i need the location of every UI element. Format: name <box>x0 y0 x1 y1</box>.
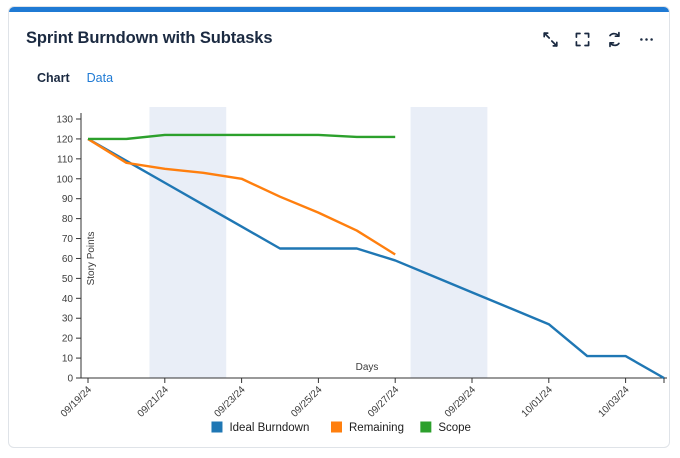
chart-legend: Ideal BurndownRemainingScope <box>211 422 470 435</box>
x-tick-label: 09/29/24 <box>443 384 479 420</box>
y-tick-label: 80 <box>62 214 74 225</box>
more-options-icon[interactable] <box>638 31 655 48</box>
y-tick-label: 130 <box>56 115 73 126</box>
x-tick-label: 09/21/24 <box>136 384 172 420</box>
tab-bar: Chart Data <box>37 71 113 85</box>
y-tick-label: 120 <box>56 134 73 145</box>
card-header: Sprint Burndown with Subtasks <box>9 12 669 60</box>
x-tick-label: 10/01/24 <box>520 384 556 420</box>
x-tick-label: 09/19/24 <box>59 384 95 420</box>
legend-label-remaining: Remaining <box>349 422 404 434</box>
collapse-icon[interactable] <box>542 31 559 48</box>
weekend-band-2 <box>411 107 488 378</box>
x-tick-label: 10/03/24 <box>596 384 632 420</box>
legend-swatch-ideal-burndown <box>211 422 222 433</box>
header-actions <box>542 31 655 48</box>
y-tick-label: 30 <box>62 314 74 325</box>
burndown-line-chart: 0102030405060708090100110120130 09/19/24… <box>9 95 670 448</box>
y-tick-label: 100 <box>56 174 73 185</box>
tab-chart[interactable]: Chart <box>37 71 70 85</box>
y-tick-label: 90 <box>62 194 74 205</box>
y-tick-label: 60 <box>62 254 74 265</box>
y-axis: 0102030405060708090100110120130 <box>56 113 81 385</box>
chart-card: Sprint Burndown with Subtasks <box>8 6 670 448</box>
page-title: Sprint Burndown with Subtasks <box>26 29 272 48</box>
y-tick-label: 70 <box>62 234 74 245</box>
legend-label-ideal-burndown: Ideal Burndown <box>229 422 309 434</box>
legend-label-scope: Scope <box>438 422 471 434</box>
chart-plot-area: 0102030405060708090100110120130 09/19/24… <box>9 95 670 448</box>
x-tick-label: 09/25/24 <box>289 384 325 420</box>
x-tick-label: 09/27/24 <box>366 384 402 420</box>
y-tick-label: 20 <box>62 334 74 345</box>
tab-data[interactable]: Data <box>87 71 113 85</box>
legend-swatch-scope <box>420 422 431 433</box>
legend-swatch-remaining <box>331 422 342 433</box>
x-axis-title: Days <box>356 362 379 373</box>
x-axis: 09/19/2409/21/2409/23/2409/25/2409/27/24… <box>59 378 667 420</box>
y-tick-label: 0 <box>67 374 73 385</box>
series-line-scope <box>88 135 395 139</box>
y-axis-title: Story Points <box>86 232 97 286</box>
y-tick-label: 40 <box>62 294 74 305</box>
fullscreen-icon[interactable] <box>574 31 591 48</box>
y-tick-label: 10 <box>62 354 74 365</box>
weekend-shading-group <box>149 107 487 378</box>
series-line-remaining <box>88 139 395 255</box>
weekend-band-1 <box>149 107 226 378</box>
refresh-icon[interactable] <box>606 31 623 48</box>
y-tick-label: 50 <box>62 274 74 285</box>
x-tick-label: 09/23/24 <box>212 384 248 420</box>
y-tick-label: 110 <box>57 154 73 165</box>
